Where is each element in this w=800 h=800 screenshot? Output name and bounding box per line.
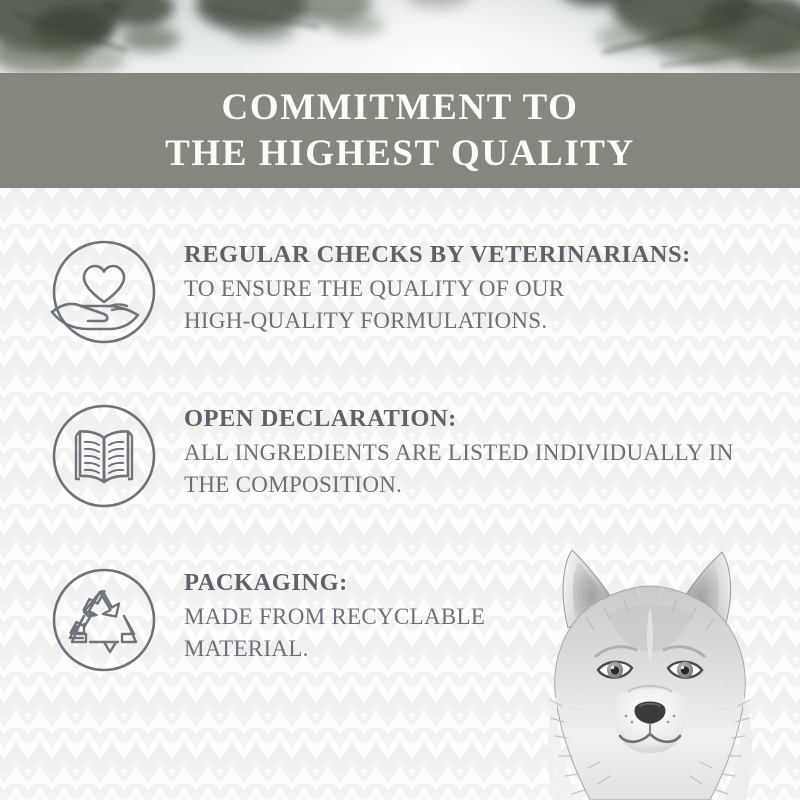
feature-body: TO ENSURE THE QUALITY OF OUR HIGH-QUALIT… [184, 273, 691, 336]
feature-text: OPEN DECLARATION: ALL INGREDIENTS ARE LI… [162, 398, 734, 500]
feature-body-line: THE COMPOSITION. [184, 469, 734, 500]
title-banner: COMMITMENT TO THE HIGHEST QUALITY [0, 73, 800, 188]
feature-body-line: HIGH-QUALITY FORMULATIONS. [184, 305, 691, 336]
feature-title: PACKAGING: [184, 568, 485, 598]
open-book-icon [48, 400, 160, 512]
foliage-blob [120, 26, 180, 52]
icon-container [48, 562, 162, 676]
feature-body-line: MADE FROM RECYCLABLE [184, 601, 485, 632]
feature-item-packaging: PACKAGING: MADE FROM RECYCLABLE MATERIAL… [48, 562, 788, 676]
icon-container [48, 398, 162, 512]
heart-in-hand-icon [48, 236, 160, 348]
content-area: REGULAR CHECKS BY VETERINARIANS: TO ENSU… [0, 188, 800, 800]
feature-body-line: ALL INGREDIENTS ARE LISTED INDIVIDUALLY … [184, 437, 734, 468]
feature-body-line: TO ENSURE THE QUALITY OF OUR [184, 273, 691, 304]
icon-container [48, 234, 162, 348]
feature-body: ALL INGREDIENTS ARE LISTED INDIVIDUALLY … [184, 437, 734, 500]
page-title-line-2: THE HIGHEST QUALITY [165, 131, 635, 176]
foliage-blob [330, 14, 384, 36]
feature-text: PACKAGING: MADE FROM RECYCLABLE MATERIAL… [162, 562, 485, 664]
feature-item-open-declaration: OPEN DECLARATION: ALL INGREDIENTS ARE LI… [48, 398, 788, 512]
feature-text: REGULAR CHECKS BY VETERINARIANS: TO ENSU… [162, 234, 691, 336]
feature-body-line: MATERIAL. [184, 633, 485, 664]
recycling-icon [48, 564, 160, 676]
page-title-line-1: COMMITMENT TO [222, 85, 579, 130]
feature-body: MADE FROM RECYCLABLE MATERIAL. [184, 601, 485, 664]
feature-item-veterinarian-checks: REGULAR CHECKS BY VETERINARIANS: TO ENSU… [48, 234, 788, 348]
feature-title: REGULAR CHECKS BY VETERINARIANS: [184, 240, 691, 270]
commitment-quality-infographic: COMMITMENT TO THE HIGHEST QUALITY [0, 0, 800, 800]
feature-title: OPEN DECLARATION: [184, 404, 734, 434]
